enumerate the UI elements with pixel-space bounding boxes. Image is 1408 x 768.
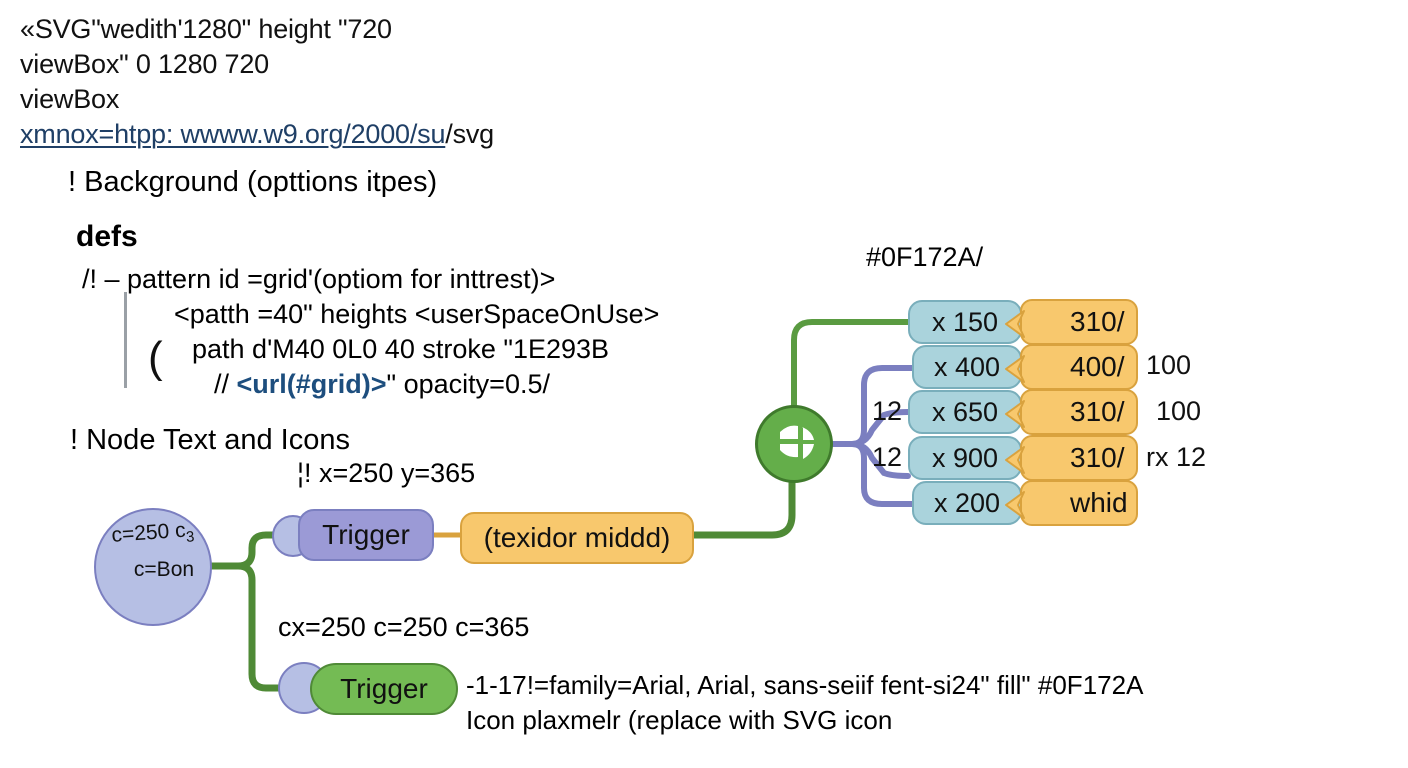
table-row-orange-1[interactable]: 310/: [1020, 299, 1138, 345]
texidor-tag[interactable]: (texidor middd): [460, 512, 694, 564]
footer-note: -1-17!=family=Arial, Arial, sans-seiif f…: [466, 668, 1143, 738]
table-row-orange-2-text: 400/: [1070, 351, 1125, 383]
xmlns-link[interactable]: xmnox=htpp: wwww.w9.org/2000/su: [20, 119, 445, 149]
url-grid-token: <url(#grid)>: [237, 369, 387, 399]
grid-globe-icon[interactable]: [755, 405, 833, 483]
code-line-1: «SVG"wedith'1280" height "720: [20, 12, 494, 47]
background-section-heading: ! Background (opttions itpes): [68, 166, 437, 199]
table-row-orange-1-text: 310/: [1070, 306, 1125, 338]
defs-line-4-tail: " opacity=0.5/: [387, 369, 550, 399]
root-node-line-2: c=Bon: [116, 555, 212, 585]
table-row-right-label-2: 100: [1146, 350, 1191, 381]
table-row-orange-2[interactable]: 400/: [1020, 344, 1138, 390]
defs-line-2: <patth =40" heights <userSpaceOnUse>: [174, 297, 659, 332]
svg-code-header: «SVG"wedith'1280" height "720 viewBox" 0…: [20, 12, 494, 152]
defs-line-3: path d'M40 0L0 40 stroke "1E293B: [192, 332, 659, 367]
xmlns-link-line[interactable]: xmnox=htpp: wwww.w9.org/2000/su/svg: [20, 117, 494, 152]
trigger-node-green[interactable]: Trigger: [310, 663, 458, 715]
node-section-heading: ! Node Text and Icons: [70, 424, 350, 457]
root-node-subscript: 3: [185, 528, 195, 546]
defs-line-1: /! – pattern id =grid'(optiom for inttre…: [82, 262, 659, 297]
root-node-line-1: c=250 c3: [93, 514, 213, 559]
label-cx: cx=250 c=250 c=365: [278, 612, 529, 643]
table-row-right-label-4: rx 12: [1146, 442, 1206, 473]
table-row-orange-3-text: 310/: [1070, 396, 1125, 428]
trigger-node-purple[interactable]: Trigger: [298, 509, 434, 561]
table-row-orange-4-text: 310/: [1070, 442, 1125, 474]
code-line-2: viewBox" 0 1280 720: [20, 47, 494, 82]
root-node-label: c=250 c3 c=Bon: [94, 518, 212, 585]
defs-label: defs: [76, 220, 138, 254]
defs-code-body: /! – pattern id =grid'(optiom for inttre…: [82, 262, 659, 402]
table-row-left-label-4: 12: [872, 442, 902, 473]
label-x-y: ¦! x=250 y=365: [297, 458, 475, 489]
code-line-3: viewBox: [20, 82, 494, 117]
defs-line-4: // <url(#grid)>" opacity=0.5/: [214, 367, 659, 402]
grid-globe-icon-glyph: [758, 408, 830, 480]
hex-color-heading: #0F172A/: [866, 242, 983, 273]
footer-line-1: -1-17!=family=Arial, Arial, sans-seiif f…: [466, 668, 1143, 703]
footer-line-2: Icon plaxmelr (replace with SVG icon: [466, 703, 1143, 738]
table-row-orange-4[interactable]: 310/: [1020, 435, 1138, 481]
table-row-left-label-3: 12: [872, 396, 902, 427]
table-row-orange-5-text: whid: [1070, 487, 1128, 519]
table-row-orange-5[interactable]: whid: [1020, 480, 1138, 526]
defs-line-4-prefix: //: [214, 369, 237, 399]
root-node-line-1-text: c=250 c: [111, 519, 187, 547]
table-row-orange-3[interactable]: 310/: [1020, 389, 1138, 435]
table-row-right-label-3: 100: [1156, 396, 1201, 427]
xmlns-link-tail: /svg: [445, 119, 494, 149]
